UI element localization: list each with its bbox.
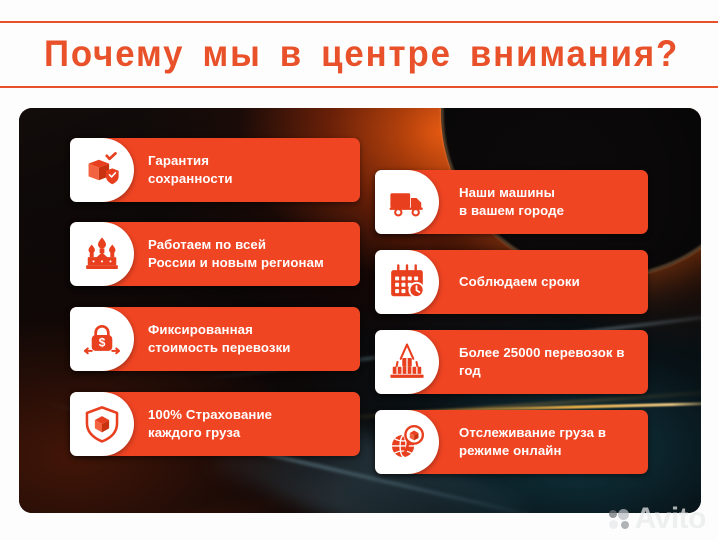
header: Почему мы в центре внимания?: [0, 0, 718, 96]
feature-panel: Гарантия сохранности: [19, 108, 701, 513]
svg-text:$: $: [99, 336, 106, 350]
feature-label: Более 25000 перевозок в год: [459, 330, 644, 394]
saint-basil-cathedral-icon: [70, 222, 134, 286]
box-shield-check-icon: [70, 138, 134, 202]
truck-icon: [375, 170, 439, 234]
feature-label: Наши машины в вашем городе: [459, 170, 644, 234]
feature-label: Фиксированная стоимость перевозки: [148, 307, 353, 371]
feature-label: Работаем по всей России и новым регионам: [148, 222, 353, 286]
avito-wordmark: Avito: [635, 504, 706, 534]
feature-label: Соблюдаем сроки: [459, 250, 644, 314]
calendar-clock-icon: [375, 250, 439, 314]
globe-magnifier-package-icon: [375, 410, 439, 474]
promo-banner: Почему мы в центре внимания?: [0, 0, 718, 540]
shield-cube-icon: [70, 392, 134, 456]
feature-label: Отслеживание груза в режиме онлайн: [459, 410, 644, 474]
pallet-boxes-icon: [375, 330, 439, 394]
avito-logo-icon: [609, 509, 631, 529]
header-rule-bottom: [0, 86, 718, 88]
padlock-dollar-icon: $: [70, 307, 134, 371]
feature-label: Гарантия сохранности: [148, 138, 353, 202]
avito-watermark: Avito: [609, 504, 706, 534]
page-title: Почему мы в центре внимания?: [44, 28, 646, 80]
header-rule-top: [0, 21, 718, 23]
feature-label: 100% Страхование каждого груза: [148, 392, 353, 456]
